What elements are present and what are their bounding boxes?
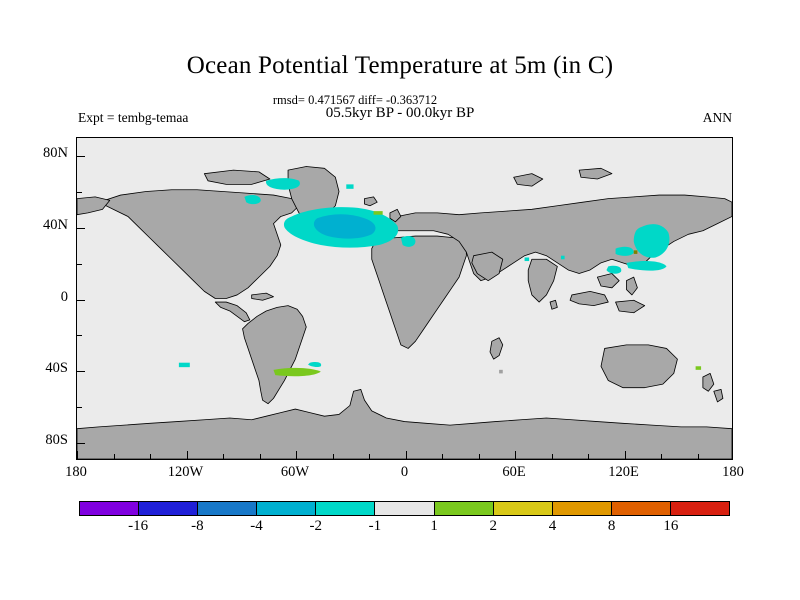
- anomaly-tasman-warm: [696, 366, 701, 370]
- x-tick: [625, 451, 626, 459]
- x-axis-label: 180: [693, 464, 773, 481]
- anomaly-arabian-sea: [525, 257, 530, 261]
- anomaly-north-atlantic-warm: [374, 211, 383, 215]
- x-tick: [77, 451, 78, 459]
- colorbar-cell[interactable]: [671, 502, 729, 515]
- colorbar-cell[interactable]: [435, 502, 494, 515]
- x-tick: [406, 451, 407, 459]
- x-tick: [479, 454, 480, 459]
- colorbar-tick-label: 4: [522, 518, 582, 535]
- colorbar-cell[interactable]: [80, 502, 139, 515]
- colorbar[interactable]: [79, 501, 730, 516]
- colorbar-cell[interactable]: [139, 502, 198, 515]
- colorbar-tick-label: -4: [227, 518, 287, 535]
- y-axis-label: 0: [8, 289, 68, 306]
- colorbar-cell[interactable]: [612, 502, 671, 515]
- colorbar-cell[interactable]: [316, 502, 375, 515]
- colorbar-tick-label: -2: [286, 518, 346, 535]
- x-tick: [552, 454, 553, 459]
- x-tick: [661, 454, 662, 459]
- anomaly-greenland-sea: [346, 184, 353, 188]
- x-axis-label: 180: [36, 464, 116, 481]
- colorbar-tick-label: -16: [108, 518, 168, 535]
- x-axis-label: 0: [365, 464, 445, 481]
- y-tick: [77, 264, 82, 265]
- season-annotation: ANN: [703, 110, 732, 126]
- anomaly-south-indian-speck: [499, 370, 503, 374]
- x-axis-label: 120E: [584, 464, 664, 481]
- y-tick: [77, 407, 82, 408]
- y-tick: [77, 156, 85, 157]
- colorbar-tick-label: 8: [582, 518, 642, 535]
- x-axis-label: 60W: [255, 464, 335, 481]
- colorbar-cell[interactable]: [198, 502, 257, 515]
- x-tick: [187, 451, 188, 459]
- colorbar-cell[interactable]: [257, 502, 316, 515]
- y-axis-label: 40S: [8, 360, 68, 377]
- x-axis-label: 60E: [474, 464, 554, 481]
- y-tick: [77, 300, 85, 301]
- y-axis-label: 80N: [8, 145, 68, 162]
- x-tick: [588, 454, 589, 459]
- y-tick: [77, 371, 85, 372]
- x-tick: [296, 451, 297, 459]
- anomaly-south-pacific: [179, 363, 190, 367]
- colorbar-cell[interactable]: [494, 502, 553, 515]
- x-tick: [442, 454, 443, 459]
- x-axis-label: 120W: [146, 464, 226, 481]
- y-axis-label: 80S: [8, 432, 68, 449]
- anomaly-bay-of-bengal: [561, 256, 565, 260]
- experiment-annotation: Expt = tembg-temaa: [78, 110, 188, 126]
- x-tick: [260, 454, 261, 459]
- y-tick: [77, 335, 82, 336]
- colorbar-cell[interactable]: [375, 502, 434, 515]
- colorbar-tick-labels: -16-8-4-2-1124816: [79, 518, 730, 540]
- page-title: Ocean Potential Temperature at 5m (in C): [0, 52, 800, 80]
- x-tick: [515, 451, 516, 459]
- anomaly-yellow-sea: [616, 247, 634, 256]
- colorbar-tick-label: 2: [463, 518, 523, 535]
- y-tick: [77, 443, 85, 444]
- x-tick: [369, 454, 370, 459]
- map-plot-area: [76, 137, 733, 460]
- x-tick: [698, 454, 699, 459]
- colorbar-tick-label: -8: [167, 518, 227, 535]
- figure-canvas: Ocean Potential Temperature at 5m (in C)…: [0, 0, 800, 600]
- anomaly-korea-speck: [634, 250, 638, 254]
- world-map-graphic: [77, 138, 732, 459]
- y-tick: [77, 192, 82, 193]
- x-tick: [114, 454, 115, 459]
- y-axis-label: 40N: [8, 217, 68, 234]
- y-tick: [77, 228, 85, 229]
- x-tick: [150, 454, 151, 459]
- colorbar-cell[interactable]: [553, 502, 612, 515]
- x-tick: [333, 454, 334, 459]
- colorbar-tick-label: -1: [345, 518, 405, 535]
- colorbar-tick-label: 1: [404, 518, 464, 535]
- colorbar-tick-label: 16: [641, 518, 701, 535]
- x-tick: [223, 454, 224, 459]
